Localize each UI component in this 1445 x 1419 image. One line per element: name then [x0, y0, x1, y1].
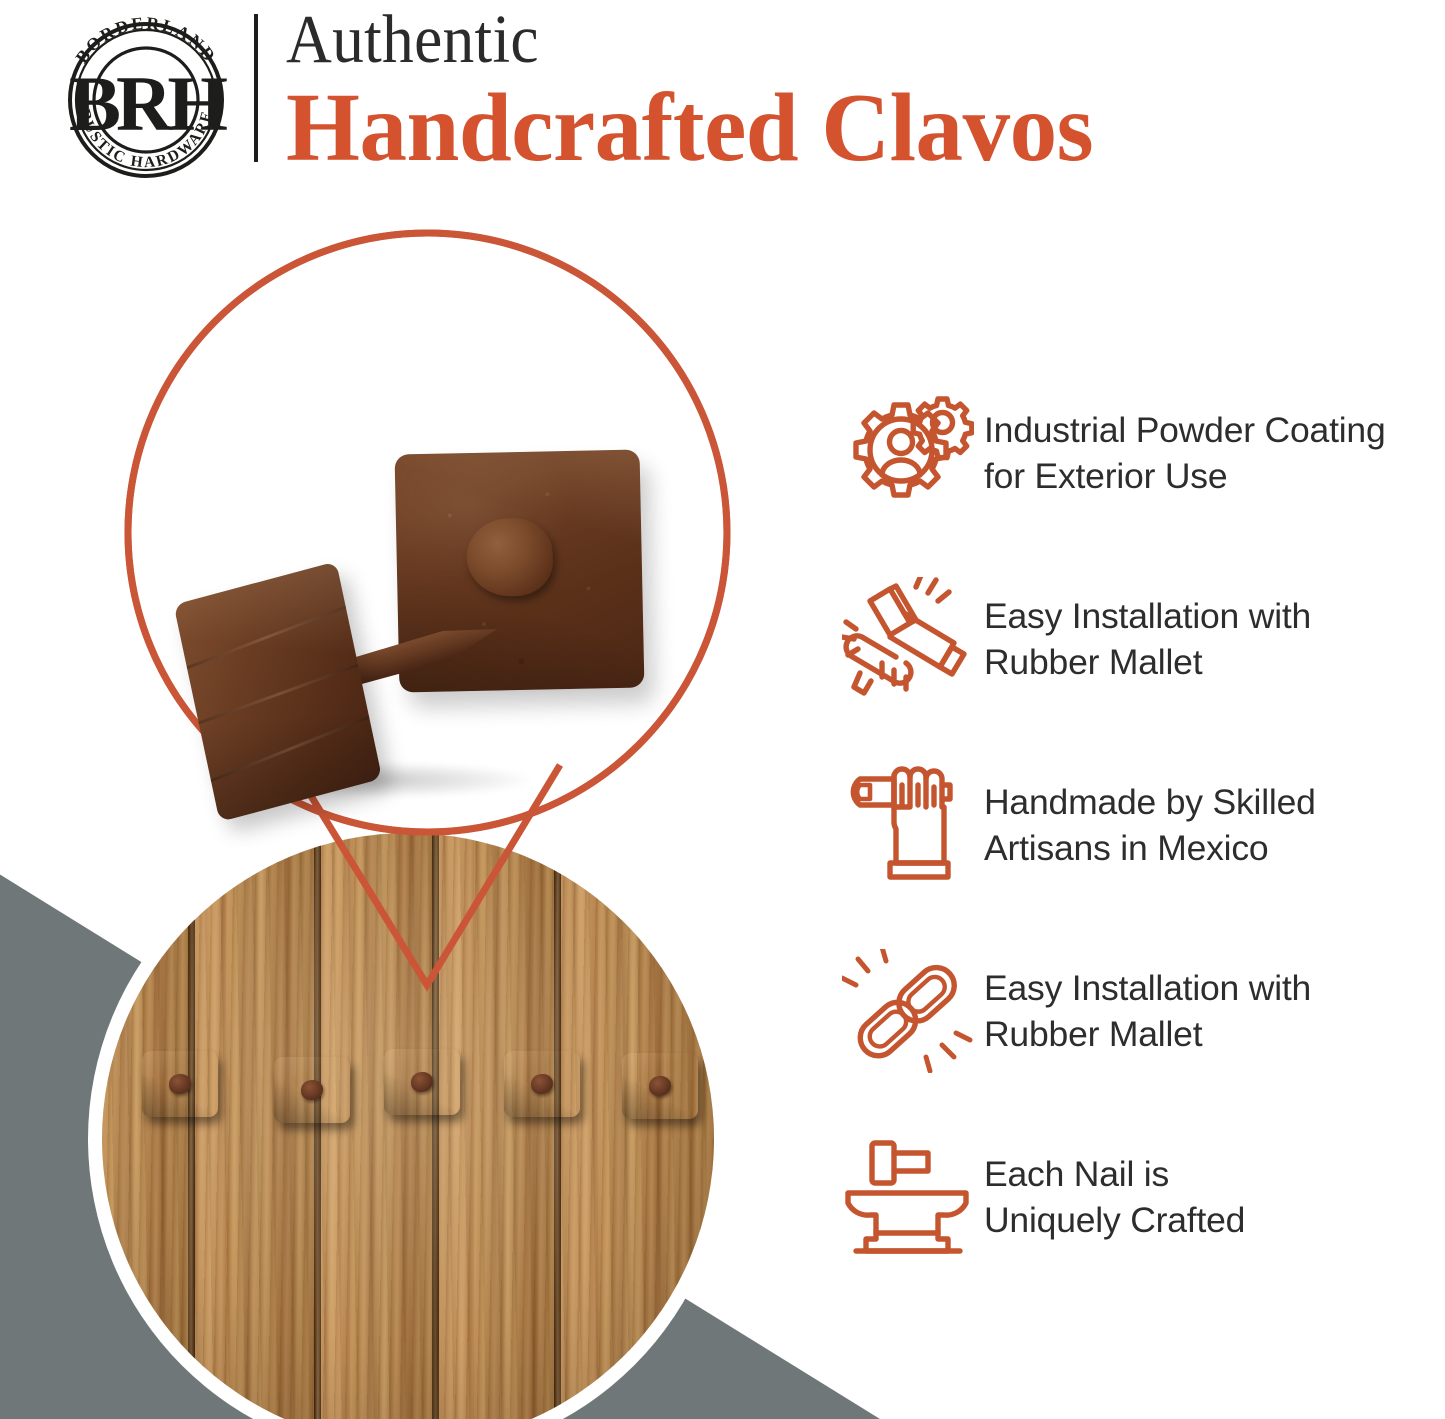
brand-logo: BORDERLAND RUSTIC HARDWARE BRH	[52, 12, 240, 180]
title-block: Authentic Handcrafted Clavos	[286, 2, 1436, 178]
eyebrow-text: Authentic	[286, 2, 1344, 76]
borderland-rustic-hardware-seal-logo: BORDERLAND RUSTIC HARDWARE BRH	[52, 12, 240, 180]
gear-person-icon	[832, 387, 984, 519]
install-photo-circle	[102, 833, 714, 1419]
feature-label: Easy Installation with Rubber Mallet	[984, 965, 1311, 1057]
feature-label: Easy Installation with Rubber Mallet	[984, 593, 1311, 685]
wood-door-photo	[102, 833, 714, 1419]
installed-clavo	[622, 1053, 698, 1119]
feature-label: Industrial Powder Coating for Exterior U…	[984, 407, 1386, 499]
installed-clavo	[274, 1057, 350, 1123]
hand-wrench-icon	[832, 759, 984, 891]
header: BORDERLAND RUSTIC HARDWARE BRH Authentic…	[0, 0, 1445, 190]
anvil-hammer-icon	[832, 1131, 984, 1263]
infographic-page: BORDERLAND RUSTIC HARDWARE BRH Authentic…	[0, 0, 1445, 1419]
svg-text:BORDERLAND: BORDERLAND	[71, 13, 221, 67]
feature-label: Handmade by Skilled Artisans in Mexico	[984, 779, 1316, 871]
feature-item: Easy Installation with Rubber Mallet	[832, 546, 1445, 732]
hand-mallet-icon	[832, 573, 984, 705]
installed-clavo	[384, 1049, 460, 1115]
feature-item: Handmade by Skilled Artisans in Mexico	[832, 732, 1445, 918]
page-title: Handcrafted Clavos	[286, 78, 1402, 178]
chain-links-icon	[832, 945, 984, 1077]
header-divider	[254, 14, 258, 162]
hero-visual	[0, 190, 820, 1419]
feature-item: Easy Installation with Rubber Mallet	[832, 918, 1445, 1104]
svg-text:BRH: BRH	[69, 60, 227, 147]
feature-list: Industrial Powder Coating for Exterior U…	[832, 360, 1445, 1290]
installed-clavo	[142, 1051, 218, 1117]
feature-item: Industrial Powder Coating for Exterior U…	[832, 360, 1445, 546]
product-photo	[175, 310, 695, 830]
feature-label: Each Nail is Uniquely Crafted	[984, 1151, 1245, 1243]
installed-clavo	[504, 1051, 580, 1117]
feature-item: Each Nail is Uniquely Crafted	[832, 1104, 1445, 1290]
